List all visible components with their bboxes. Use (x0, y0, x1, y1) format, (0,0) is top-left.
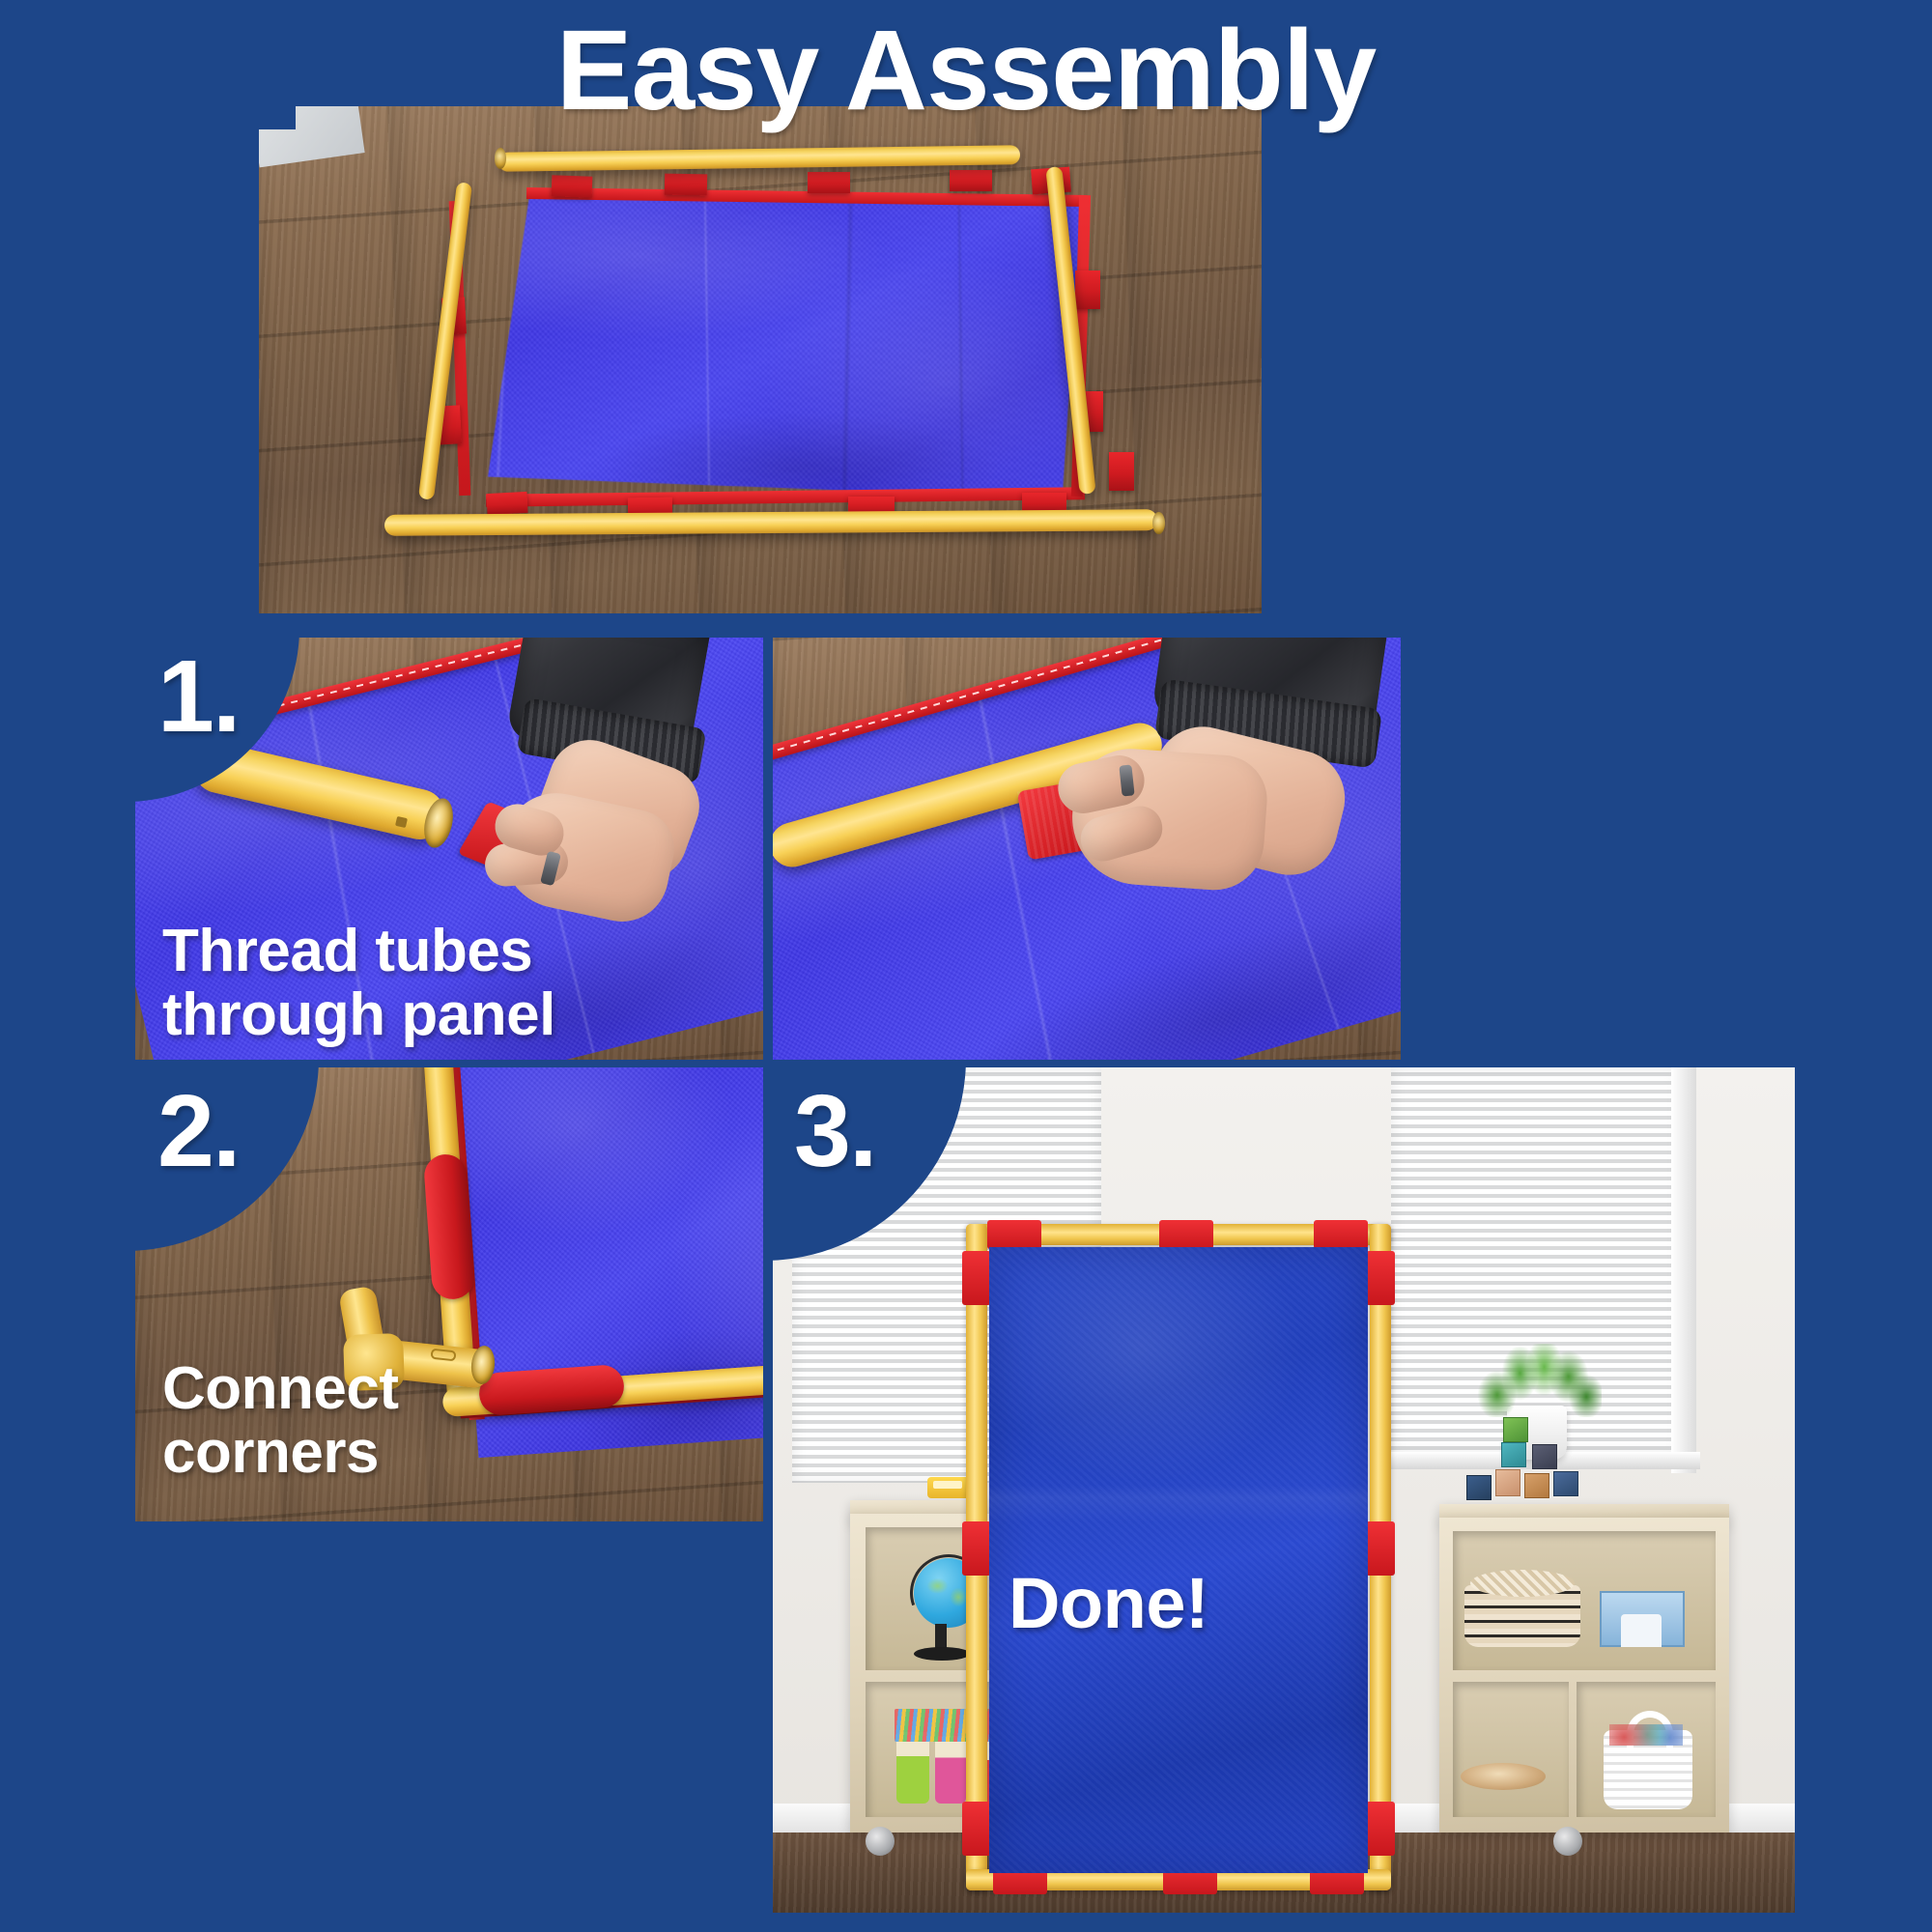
step3-number: 3. (794, 1080, 875, 1182)
step2-number: 2. (157, 1080, 239, 1182)
pencil-cup-green (896, 1732, 929, 1804)
frame-clip (962, 1251, 991, 1305)
frame-clip (1366, 1802, 1395, 1856)
mounted-panel-sheen (989, 1247, 1368, 1873)
fabric-strap (665, 174, 707, 196)
tube-pin-hole (395, 816, 408, 828)
right-shelf-cubby-lower-left (1453, 1682, 1569, 1817)
alphabet-block (1495, 1469, 1520, 1496)
pencil-cup-pink (935, 1736, 966, 1804)
plant-leaves (1474, 1344, 1602, 1417)
frame-clip (1314, 1220, 1368, 1249)
shelf-caster (866, 1827, 895, 1856)
step1-number: 1. (157, 645, 239, 748)
toy-bus-window (933, 1481, 962, 1489)
alphabet-block (1503, 1417, 1528, 1442)
toy-garage-opening (1621, 1614, 1662, 1647)
step3-caption: Done! (1009, 1566, 1208, 1641)
alphabet-block (1501, 1442, 1526, 1467)
page-title: Easy Assembly (0, 14, 1932, 128)
shelf-caster (1553, 1827, 1582, 1856)
frame-clip (1159, 1220, 1213, 1249)
tube-end-cap (495, 148, 506, 169)
tube-end-cap (1152, 512, 1165, 534)
frame-clip (1366, 1251, 1395, 1305)
step2-caption: Connect corners (162, 1357, 399, 1484)
fabric-strap (1075, 270, 1100, 309)
fabric-strap (552, 175, 593, 197)
fabric-strap (950, 170, 992, 191)
fabric-strap (808, 172, 850, 193)
basket-yarn-contents (1609, 1724, 1683, 1746)
woven-basket-contents (1470, 1570, 1575, 1597)
alphabet-block (1524, 1473, 1549, 1498)
blue-panel (449, 190, 1088, 499)
frame-clip (1366, 1521, 1395, 1576)
step1-caption: Thread tubes through panel (162, 920, 555, 1046)
frame-clip (962, 1802, 991, 1856)
alphabet-block (1553, 1471, 1578, 1496)
alphabet-block (1466, 1475, 1492, 1500)
globe-base (914, 1647, 970, 1661)
step3-photo: Done! (773, 1067, 1795, 1913)
wooden-lid-tin (1461, 1763, 1546, 1790)
hero-photo (259, 106, 1262, 613)
alphabet-block (1532, 1444, 1557, 1469)
frame-clip (987, 1220, 1041, 1249)
frame-clip (962, 1521, 991, 1576)
panel-sheen (449, 190, 1088, 499)
step1-photo-right (773, 638, 1401, 1060)
fabric-strap (486, 492, 527, 515)
window-frame-right (1671, 1067, 1696, 1473)
fabric-strap (1109, 452, 1134, 491)
